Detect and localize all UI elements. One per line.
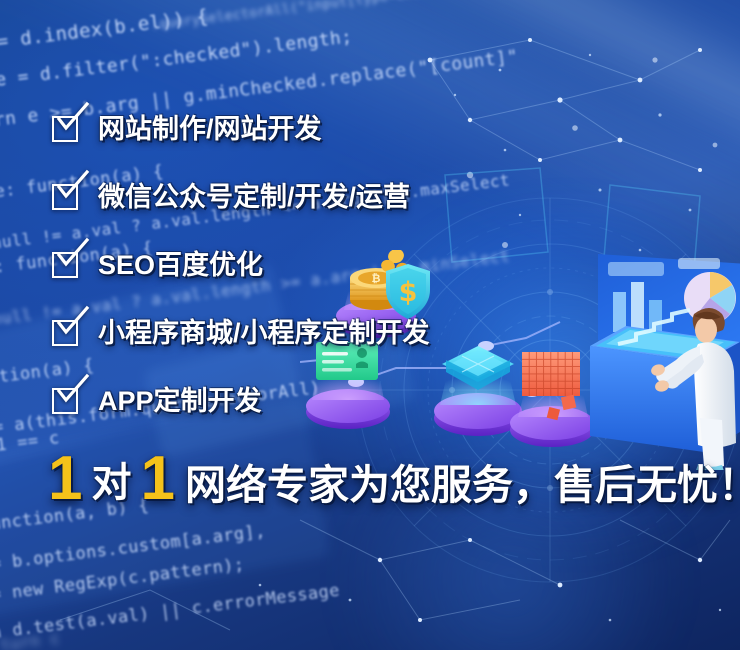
checkbox-checked-icon[interactable]: [52, 252, 78, 278]
checklist-item[interactable]: 微信公众号定制/开发/运营: [52, 166, 692, 228]
headline: 1 对 1 网络专家为您服务，售后无忧！: [48, 448, 740, 510]
checklist-item[interactable]: 小程序商城/小程序定制开发: [52, 302, 692, 364]
checkbox-checked-icon[interactable]: [52, 388, 78, 414]
background-code-line: = new RegExp(c.pattern);: [0, 555, 246, 606]
checklist-item-label: APP定制开发: [98, 388, 262, 415]
checkbox-checked-icon[interactable]: [52, 116, 78, 142]
checkbox-checked-icon[interactable]: [52, 320, 78, 346]
checklist-item-label: 小程序商城/小程序定制开发: [98, 320, 430, 347]
promotional-banner: .querySelectorAll("input[type=checkbox]"…: [0, 0, 740, 650]
background-code-line: e = d.filter(":checked").length;: [0, 26, 354, 91]
headline-number-second: 1: [140, 448, 174, 510]
background-code-line: n d.test(a.val) || c.errorMessage: [0, 581, 341, 644]
headline-tail-text: 网络专家为您服务，售后无忧！: [175, 465, 740, 506]
checklist-item-label: SEO百度优化: [98, 252, 263, 279]
background-code-line: = b.options.custom[a.arg],: [0, 521, 267, 575]
checkbox-checked-icon[interactable]: [52, 184, 78, 210]
background-code-line: .querySelectorAll("input[type=checkbox]"…: [150, 0, 487, 33]
headline-pair-word: 对: [82, 463, 140, 503]
checklist-item[interactable]: SEO百度优化: [52, 234, 692, 296]
background-code-line: turn c: [0, 628, 61, 650]
checklist-item[interactable]: APP定制开发: [52, 370, 692, 432]
headline-number-first: 1: [48, 448, 82, 510]
service-checklist: 网站制作/网站开发 微信公众号定制/开发/运营 SEO百度优化: [52, 98, 692, 438]
background-code-line: = d.index(b.el)) {: [0, 5, 210, 53]
checklist-item[interactable]: 网站制作/网站开发: [52, 98, 692, 160]
checklist-item-label: 网站制作/网站开发: [98, 116, 322, 143]
checklist-item-label: 微信公众号定制/开发/运营: [98, 184, 410, 211]
